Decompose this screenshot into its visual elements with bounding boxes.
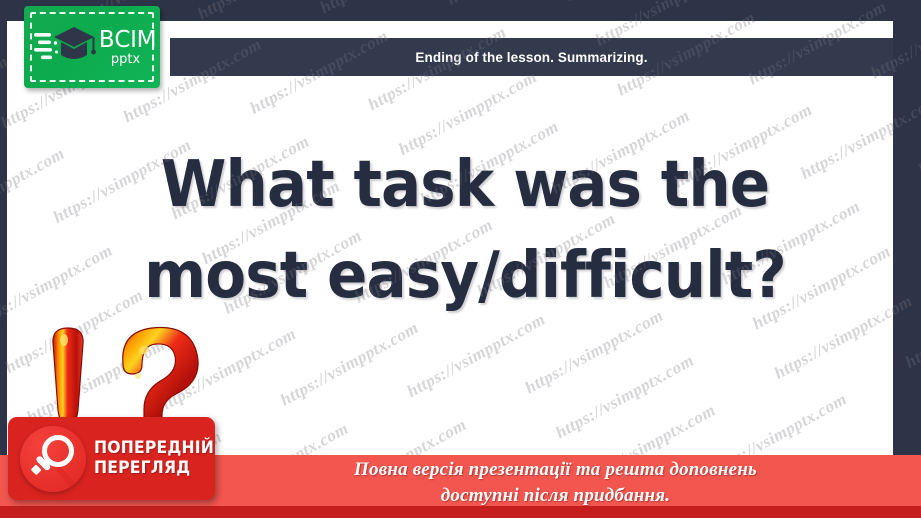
preview-badge-icon-wrap: [20, 426, 86, 492]
graduation-cap-icon: [34, 19, 96, 76]
banner-bottom-strip: [0, 506, 921, 518]
preview-badge-text: ПОПЕРЕДНІЙ ПЕРЕГЛЯД: [94, 439, 214, 477]
purchase-notice-text: Повна версія презентації та решта доповн…: [164, 457, 757, 507]
slide-header-title: Ending of the lesson. Summarizing.: [415, 50, 647, 65]
purchase-notice-line-2: доступні після придбання.: [164, 483, 757, 508]
purchase-notice-line-1: Повна версія презентації та решта доповн…: [164, 457, 757, 482]
preview-badge-line-2: ПЕРЕГЛЯД: [94, 459, 214, 478]
watermark-text: https://vsimpptx.com: [317, 0, 462, 17]
slide-main-heading: What task was the most easy/difficult?: [60, 140, 870, 322]
preview-badge: ПОПЕРЕДНІЙ ПЕРЕГЛЯД: [8, 417, 215, 500]
slide-header-bar: Ending of the lesson. Summarizing.: [170, 38, 893, 76]
preview-badge-line-1: ПОПЕРЕДНІЙ: [94, 439, 214, 458]
watermark-text: https://vsimpptx.com: [902, 280, 921, 372]
magnifier-icon: [20, 426, 86, 492]
heading-line-2: most easy/difficult?: [88, 231, 841, 322]
logo-text-main: ВСІМ: [99, 29, 156, 52]
watermark-text: https://vsimpptx.com: [443, 0, 588, 9]
logo-inner: ВСІМ pptx: [24, 6, 160, 88]
watermark-text: https://vsimpptx.com: [915, 88, 921, 180]
logo-text-block: ВСІМ pptx: [99, 29, 156, 66]
slide-canvas: https://vsimpptx.comhttps://vsimpptx.com…: [0, 0, 921, 518]
logo-text-sub: pptx: [111, 53, 140, 66]
vsimpptx-logo: ВСІМ pptx: [24, 6, 160, 88]
watermark-text: https://vsimpptx.com: [194, 0, 339, 23]
watermark-text: https://vsimpptx.com: [561, 0, 706, 5]
heading-line-1: What task was the: [88, 140, 841, 231]
